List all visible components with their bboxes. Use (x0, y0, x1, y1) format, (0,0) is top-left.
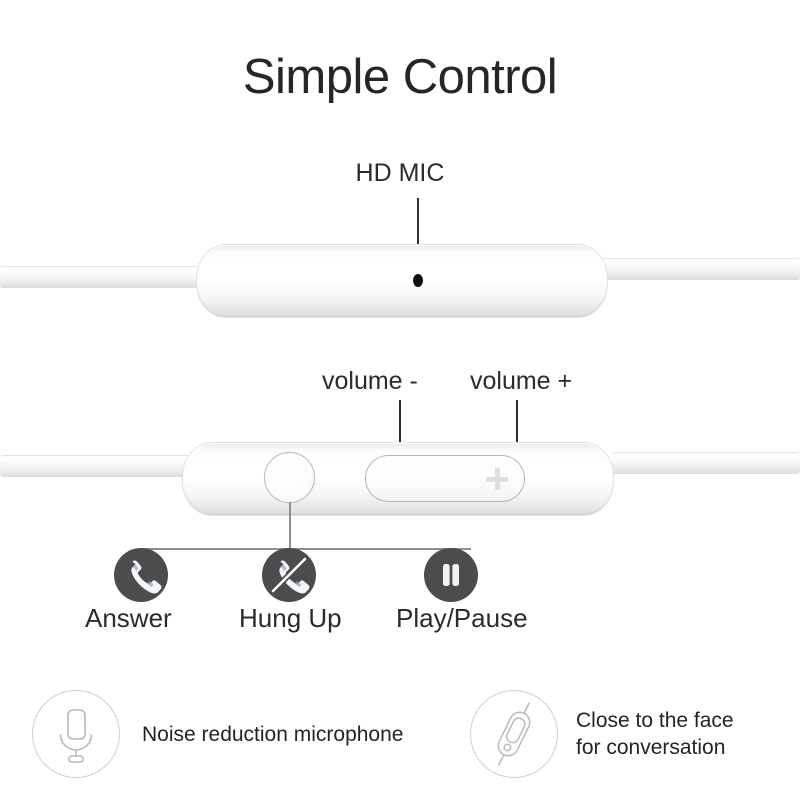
feature-noise-reduction: Noise reduction microphone (32, 690, 403, 778)
multifunction-button[interactable] (264, 452, 315, 503)
mic-hole-icon (413, 274, 423, 287)
cable-right-top (600, 258, 800, 280)
feature-text-noise-reduction: Noise reduction microphone (142, 721, 403, 748)
feature-icon-circle-microphone (32, 690, 120, 778)
remote-module-top (196, 244, 608, 318)
plus-icon (486, 468, 508, 490)
control-icon-answer[interactable] (114, 548, 168, 602)
control-icon-play-pause[interactable] (424, 548, 478, 602)
callout-label-hd-mic: HD MIC (0, 158, 800, 188)
leader-line-multifunction-button (289, 502, 291, 550)
cable-left-bottom (0, 455, 190, 477)
control-label-hang-up: Hung Up (239, 602, 342, 634)
callout-label-volume-down: volume - (322, 366, 418, 396)
control-label-answer: Answer (85, 602, 172, 634)
volume-rocker-button[interactable] (365, 455, 525, 502)
cable-right-bottom (612, 452, 800, 474)
feature-icon-circle-remote (470, 690, 558, 778)
control-label-play-pause: Play/Pause (396, 602, 528, 634)
page-title: Simple Control (0, 48, 800, 106)
infographic-canvas: Simple Control HD MIC volume - volume + (0, 0, 800, 800)
callout-label-volume-up: volume + (470, 366, 572, 396)
feature-close-to-face: Close to the face for conversation (470, 690, 734, 778)
cable-left-top (0, 266, 205, 288)
feature-text-close-to-face: Close to the face for conversation (576, 707, 734, 761)
control-icon-hang-up[interactable] (262, 548, 316, 602)
